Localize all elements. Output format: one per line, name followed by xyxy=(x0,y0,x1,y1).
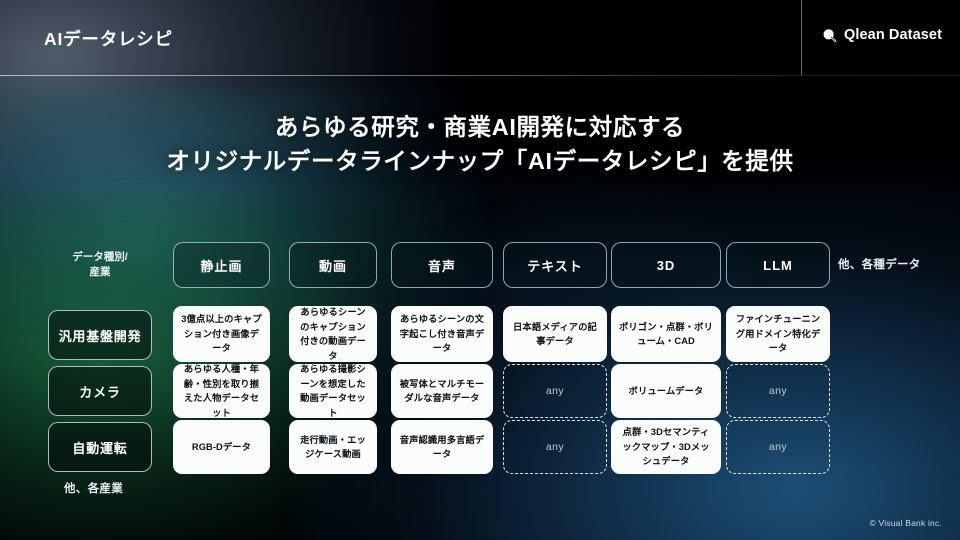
matrix-cell-r3-c6[interactable]: any xyxy=(726,420,830,474)
column-header-2[interactable]: 動画 xyxy=(289,242,377,288)
extra-columns-note: 他、各種データ xyxy=(838,256,921,272)
page-title: AIデータレシピ xyxy=(44,26,173,51)
matrix-cell-r3-c1[interactable]: RGB-Dデータ xyxy=(173,420,270,474)
row-label-1[interactable]: 汎用基盤開発 xyxy=(48,310,152,360)
column-header-4[interactable]: テキスト xyxy=(503,242,607,288)
corner-label-line-2: 産業 xyxy=(90,265,111,280)
matrix-cell-r1-c3[interactable]: あらゆるシーンの文字起こし付き音声データ xyxy=(391,306,493,362)
extra-rows-note: 他、各産業 xyxy=(64,480,123,496)
row-label-3[interactable]: 自動運転 xyxy=(48,422,152,472)
slide-root: AIデータレシピ Qlean Dataset あらゆる研究・商業AI開発に対応す… xyxy=(0,0,960,540)
brand-logo-text: Qlean Dataset xyxy=(844,27,942,43)
footer-copyright: © Visual Bank inc. xyxy=(869,518,942,528)
data-matrix: データ種別/ 産業 静止画動画音声テキスト3DLLM 他、各種データ 汎用基盤開… xyxy=(0,0,960,540)
matrix-cell-r1-c5[interactable]: ポリゴン・点群・ボリューム・CAD xyxy=(611,306,721,362)
magnifier-q-icon xyxy=(822,28,837,43)
matrix-cell-r2-c3[interactable]: 被写体とマルチモーダルな音声データ xyxy=(391,364,493,418)
matrix-cell-r2-c1[interactable]: あらゆる人種・年齢・性別を取り揃えた人物データセット xyxy=(173,364,270,418)
matrix-cell-r2-c2[interactable]: あらゆる撮影シーンを想定した動画データセット xyxy=(289,364,377,418)
brand-logo: Qlean Dataset xyxy=(822,27,942,43)
header-rule xyxy=(0,75,960,76)
matrix-cell-r2-c6[interactable]: any xyxy=(726,364,830,418)
matrix-cell-r1-c1[interactable]: 3億点以上のキャプション付き画像データ xyxy=(173,306,270,362)
matrix-corner-label: データ種別/ 産業 xyxy=(48,242,152,288)
matrix-cell-r3-c5[interactable]: 点群・3Dセマンティックマップ・3Dメッシュデータ xyxy=(611,420,721,474)
matrix-cell-r2-c5[interactable]: ボリュームデータ xyxy=(611,364,721,418)
column-header-1[interactable]: 静止画 xyxy=(173,242,270,288)
page-header: AIデータレシピ Qlean Dataset xyxy=(0,0,960,76)
matrix-cell-r3-c4[interactable]: any xyxy=(503,420,607,474)
column-header-6[interactable]: LLM xyxy=(726,242,830,288)
header-divider xyxy=(801,0,802,75)
matrix-cell-r3-c3[interactable]: 音声認識用多言語データ xyxy=(391,420,493,474)
matrix-cell-r3-c2[interactable]: 走行動画・エッジケース動画 xyxy=(289,420,377,474)
corner-label-line-1: データ種別/ xyxy=(72,250,127,265)
matrix-cell-r1-c2[interactable]: あらゆるシーンのキャプション付きの動画データ xyxy=(289,306,377,362)
matrix-cell-r1-c4[interactable]: 日本語メディアの記事データ xyxy=(503,306,607,362)
matrix-cell-r1-c6[interactable]: ファインチューニング用ドメイン特化データ xyxy=(726,306,830,362)
matrix-cell-r2-c4[interactable]: any xyxy=(503,364,607,418)
row-label-2[interactable]: カメラ xyxy=(48,366,152,416)
column-header-5[interactable]: 3D xyxy=(611,242,721,288)
column-header-3[interactable]: 音声 xyxy=(391,242,493,288)
